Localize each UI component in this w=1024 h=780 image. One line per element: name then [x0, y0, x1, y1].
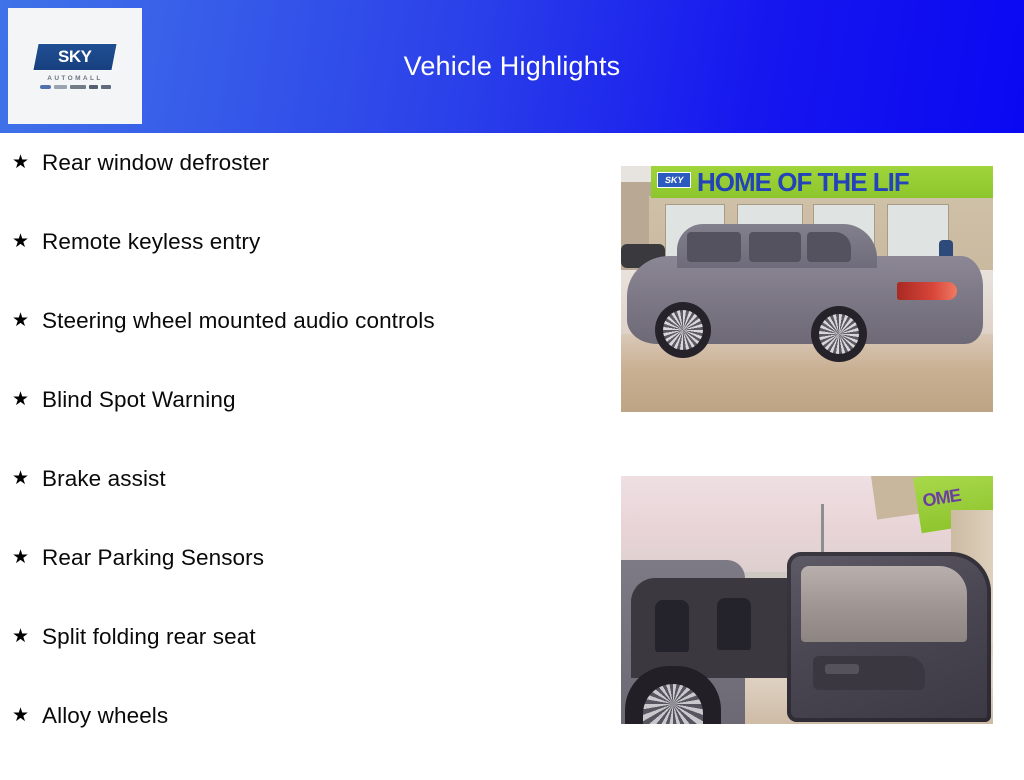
vehicle-front-door-glass	[687, 232, 741, 262]
list-item: ★ Split folding rear seat	[0, 622, 600, 701]
vehicle-front-seat	[655, 600, 689, 652]
vehicle-open-rear-door	[787, 552, 991, 722]
list-item: ★ Steering wheel mounted audio controls	[0, 306, 600, 385]
vehicle-taillight	[897, 282, 957, 300]
star-bullet-icon: ★	[12, 622, 42, 652]
dealer-logo[interactable]: SKY AUTOMALL	[8, 8, 142, 124]
door-inner-handle	[825, 664, 859, 674]
list-item: ★ Blind Spot Warning	[0, 385, 600, 464]
feature-label: Rear Parking Sensors	[42, 543, 264, 573]
star-bullet-icon: ★	[12, 543, 42, 573]
vehicle-interior-photo[interactable]: OME	[621, 476, 993, 724]
vehicle-rear-door-glass	[749, 232, 801, 262]
feature-label: Blind Spot Warning	[42, 385, 236, 415]
dealer-logo-inner: SKY AUTOMALL	[25, 44, 125, 89]
automall-subtitle: AUTOMALL	[47, 75, 103, 82]
feature-label: Brake assist	[42, 464, 166, 494]
feature-label: Steering wheel mounted audio controls	[42, 306, 435, 336]
sky-logo-text: SKY	[58, 47, 91, 67]
brand-badge-ford-icon	[40, 85, 51, 89]
star-bullet-icon: ★	[12, 148, 42, 178]
star-bullet-icon: ★	[12, 227, 42, 257]
vehicle-rear-wheel	[811, 306, 867, 362]
page-header: Vehicle Highlights	[0, 0, 1024, 133]
feature-label: Remote keyless entry	[42, 227, 260, 257]
feature-label: Split folding rear seat	[42, 622, 256, 652]
page-title: Vehicle Highlights	[0, 0, 1024, 133]
brand-badge-chrysler-icon	[54, 85, 67, 89]
dealership-green-banner: HOME OF THE LIF SKY	[651, 166, 993, 198]
list-item: ★ Remote keyless entry	[0, 227, 600, 306]
list-item: ★ Rear window defroster	[0, 148, 600, 227]
star-bullet-icon: ★	[12, 464, 42, 494]
list-item: ★ Brake assist	[0, 464, 600, 543]
star-bullet-icon: ★	[12, 701, 42, 731]
manufacturer-badges-row	[40, 85, 111, 89]
list-item: ★ Rear Parking Sensors	[0, 543, 600, 622]
vehicle-highlights-list: ★ Rear window defroster ★ Remote keyless…	[0, 148, 600, 780]
door-window-glass	[801, 566, 967, 642]
vehicle-exterior-photo[interactable]: HOME OF THE LIF SKY	[621, 166, 993, 412]
star-bullet-icon: ★	[12, 306, 42, 336]
list-item: ★ Alloy wheels	[0, 701, 600, 780]
vehicle-quarter-glass	[807, 232, 851, 262]
banner-sky-logo-icon: SKY	[657, 172, 691, 188]
feature-label: Rear window defroster	[42, 148, 269, 178]
vehicle-front-wheel	[655, 302, 711, 358]
sky-logo-plate: SKY	[33, 44, 116, 70]
star-bullet-icon: ★	[12, 385, 42, 415]
banner-text: HOME OF THE LIF	[697, 168, 909, 196]
banner-text: OME	[921, 485, 962, 512]
vehicle-rear-seat	[717, 598, 751, 650]
banner-sky-logo-text: SKY	[664, 175, 684, 185]
brand-badge-dodge-icon	[70, 85, 86, 89]
brand-badge-ram-icon	[101, 85, 111, 89]
feature-label: Alloy wheels	[42, 701, 168, 731]
brand-badge-jeep-icon	[89, 85, 98, 89]
